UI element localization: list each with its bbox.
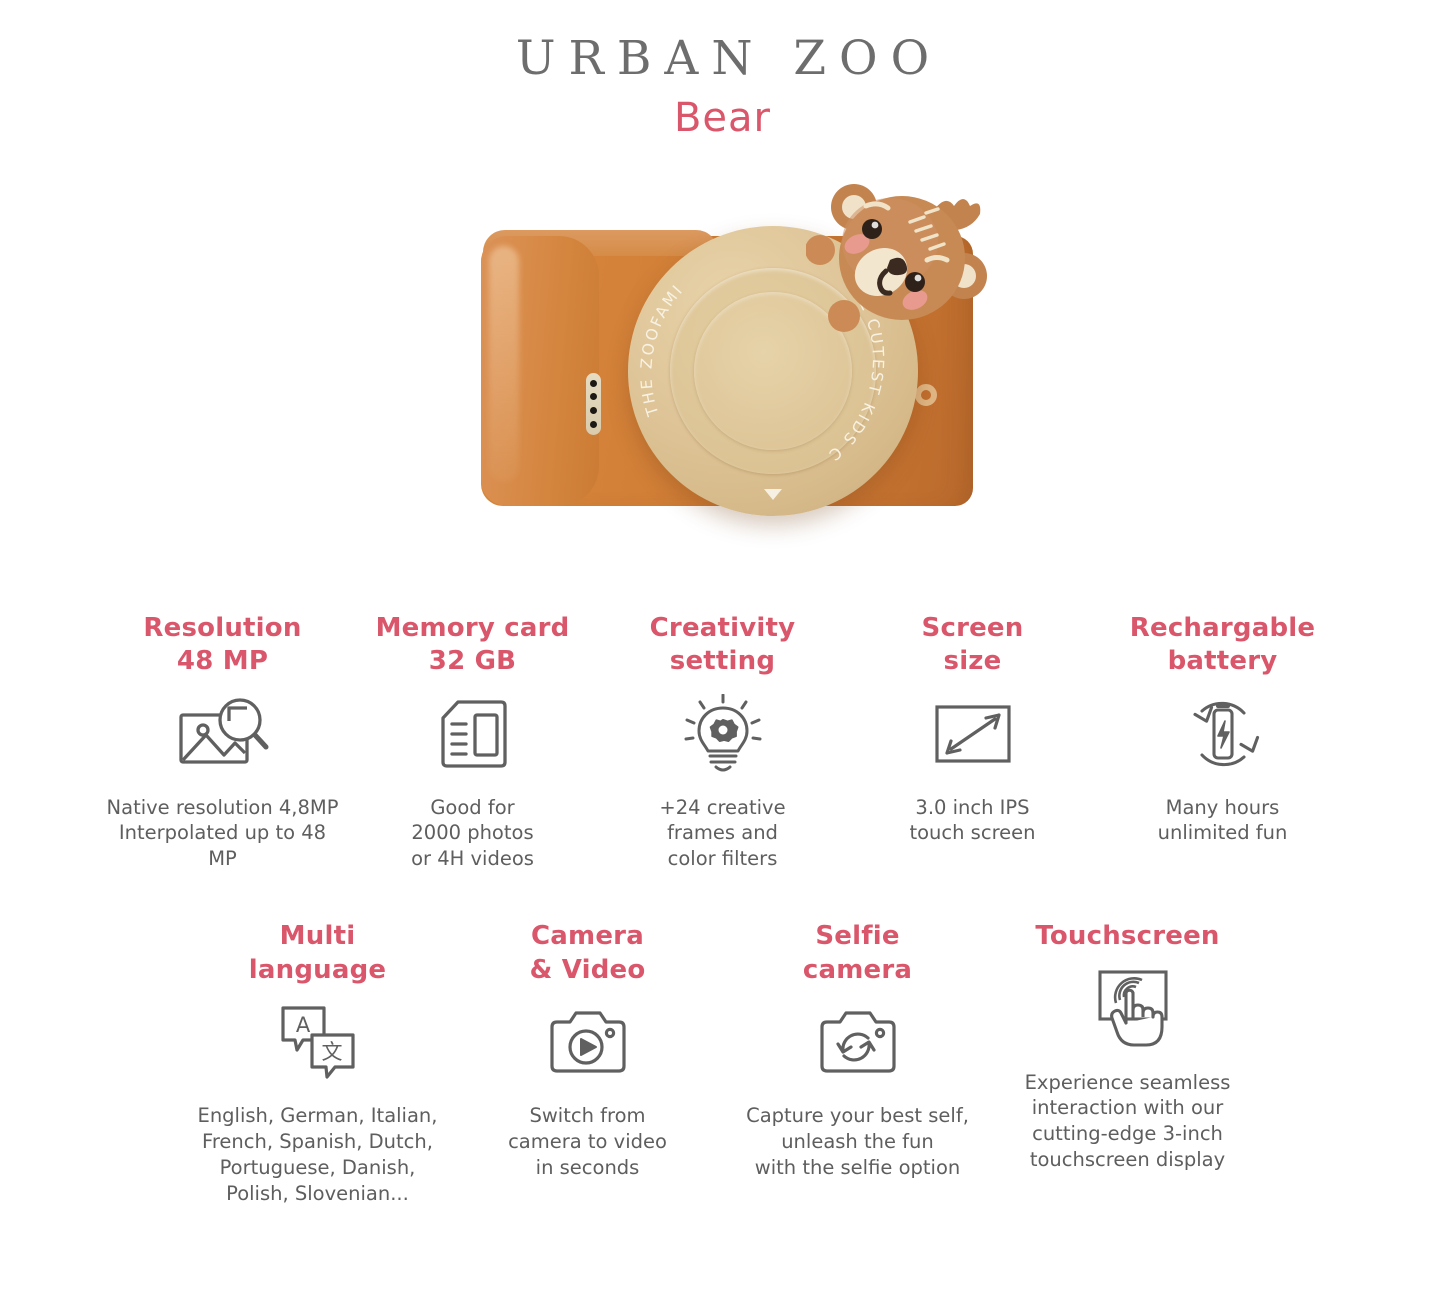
feature-description: Good for 2000 photos or 4H videos xyxy=(411,795,534,873)
feature-title: Memory card 32 GB xyxy=(376,612,570,679)
model-name: Bear xyxy=(0,95,1445,141)
feature-title: Selfie camera xyxy=(803,920,912,987)
feature-title: Resolution 48 MP xyxy=(143,612,301,679)
memory-card-icon xyxy=(439,695,507,773)
brand-title: URBAN ZOO xyxy=(0,30,1445,89)
feature-title: Camera & Video xyxy=(530,920,646,987)
camera-product-image: THE ZOOFAMILY THE CUTEST KIDS CAMERA xyxy=(473,188,993,518)
feature-title: Creativity setting xyxy=(650,612,796,679)
feature-battery: Rechargable battery Many hours unlimited… xyxy=(1098,612,1348,872)
feature-title: Multi language xyxy=(249,920,386,987)
translate-bubbles-icon: A 文 xyxy=(278,1003,358,1081)
feature-touchscreen: Touchscreen Experience seamless interact… xyxy=(993,920,1263,1206)
product-hero: THE ZOOFAMILY THE CUTEST KIDS CAMERA xyxy=(0,153,1445,553)
camera-grip-highlight xyxy=(489,246,519,482)
feature-description: Capture your best self, unleash the fun … xyxy=(746,1103,969,1181)
feature-description: Switch from camera to video in seconds xyxy=(508,1103,667,1181)
speaker-grille xyxy=(586,373,601,435)
feature-description: 3.0 inch IPS touch screen xyxy=(909,795,1035,847)
feature-title: Touchscreen xyxy=(1035,920,1219,953)
feature-selfie-camera: Selfie camera Capture your best self, un… xyxy=(723,920,993,1206)
page-header: URBAN ZOO Bear xyxy=(0,0,1445,141)
touch-hand-icon xyxy=(1086,970,1170,1048)
features-section: Resolution 48 MP Native resolution 4,8MP… xyxy=(0,612,1445,1207)
feature-title: Rechargable battery xyxy=(1130,612,1315,679)
camera-play-icon xyxy=(548,1003,628,1081)
feature-title: Screen size xyxy=(922,612,1024,679)
feature-row-1: Resolution 48 MP Native resolution 4,8MP… xyxy=(0,612,1445,872)
lightbulb-gear-icon xyxy=(684,695,762,773)
feature-description: English, German, Italian, French, Spanis… xyxy=(198,1103,438,1207)
feature-multi-language: Multi language A 文 English, German, Ital… xyxy=(183,920,453,1206)
feature-creativity: Creativity setting xyxy=(598,612,848,872)
feature-screen-size: Screen size 3.0 inch IPS touch screen xyxy=(848,612,1098,872)
feature-description: Native resolution 4,8MP Interpolated up … xyxy=(104,795,342,873)
battery-recharge-icon xyxy=(1182,695,1264,773)
feature-description: +24 creative frames and color filters xyxy=(659,795,785,873)
feature-description: Many hours unlimited fun xyxy=(1158,795,1288,847)
feature-description: Experience seamless interaction with our… xyxy=(1025,1070,1231,1174)
feature-camera-video: Camera & Video Switch from camera to vid… xyxy=(453,920,723,1206)
screen-diagonal-icon xyxy=(933,695,1013,773)
image-magnifier-icon xyxy=(177,695,269,773)
lens-text-left-label: THE ZOOFAMILY xyxy=(628,226,687,419)
feature-memory-card: Memory card 32 GB Good for 2000 photos o… xyxy=(348,612,598,872)
bear-mascot xyxy=(806,172,996,347)
camera-rotate-icon xyxy=(818,1003,898,1081)
svg-text:文: 文 xyxy=(321,1040,342,1064)
svg-text:A: A xyxy=(295,1013,310,1037)
feature-row-2: Multi language A 文 English, German, Ital… xyxy=(0,920,1445,1206)
feature-resolution: Resolution 48 MP Native resolution 4,8MP… xyxy=(98,612,348,872)
